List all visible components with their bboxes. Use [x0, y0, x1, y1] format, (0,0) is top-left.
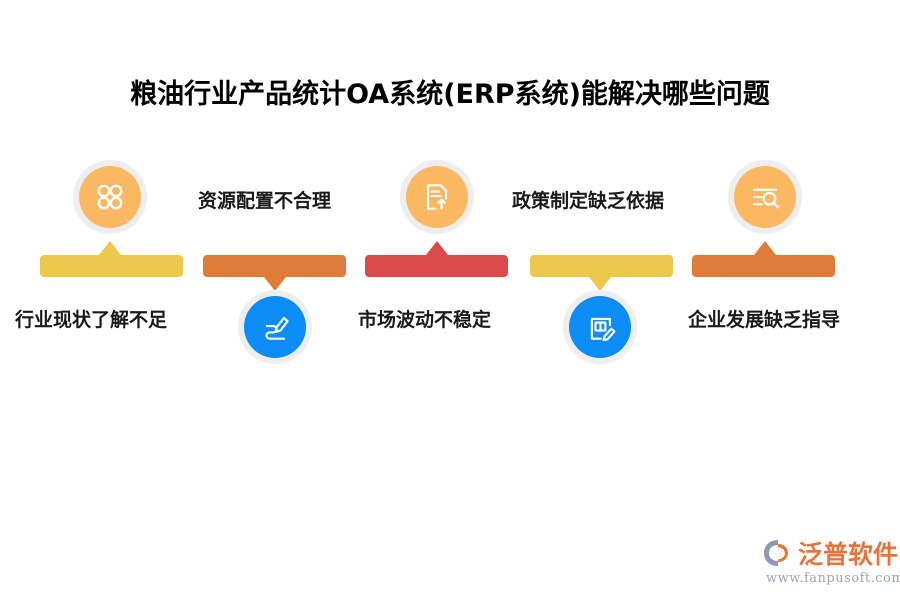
- bar-1: [40, 255, 183, 277]
- arrow-up-icon: [426, 241, 448, 255]
- bottom-icon-badge-2: [238, 290, 312, 364]
- brand-logo: 泛普软件 www.fanpusoft.com: [762, 536, 892, 590]
- bar-2: [203, 255, 346, 277]
- bottom-icon-badge-4: [563, 290, 637, 364]
- arrow-down-icon: [264, 277, 286, 291]
- arrow-up-icon: [754, 241, 776, 255]
- arrow-down-icon: [589, 277, 611, 291]
- logo-name: 泛普软件: [798, 535, 898, 571]
- four-dots-icon: [79, 166, 141, 228]
- bottom-label-1: 行业现状了解不足: [15, 305, 167, 332]
- logo-url: www.fanpusoft.com: [766, 571, 892, 586]
- fanpu-logo-mark: [762, 538, 796, 568]
- sign-pen-icon: [244, 296, 306, 358]
- logo-row: 泛普软件: [762, 536, 892, 570]
- list-search-icon: [734, 166, 796, 228]
- infographic-canvas: 粮油行业产品统计OA系统(ERP系统)能解决哪些问题 资源配置不合理政策制定缺乏…: [0, 0, 900, 600]
- arrow-up-icon: [99, 241, 121, 255]
- bar-4: [530, 255, 673, 277]
- top-icon-badge-1: [73, 160, 147, 234]
- page-title: 粮油行业产品统计OA系统(ERP系统)能解决哪些问题: [0, 72, 900, 111]
- bottom-label-3: 市场波动不稳定: [358, 305, 491, 332]
- bar-3: [365, 255, 508, 277]
- top-label-4: 政策制定缺乏依据: [512, 186, 664, 213]
- top-label-2: 资源配置不合理: [198, 186, 331, 213]
- document-upload-icon: [406, 166, 468, 228]
- top-icon-badge-3: [400, 160, 474, 234]
- top-icon-badge-5: [728, 160, 802, 234]
- bottom-label-5: 企业发展缺乏指导: [688, 305, 840, 332]
- bar-5: [692, 255, 835, 277]
- text-edit-icon: [569, 296, 631, 358]
